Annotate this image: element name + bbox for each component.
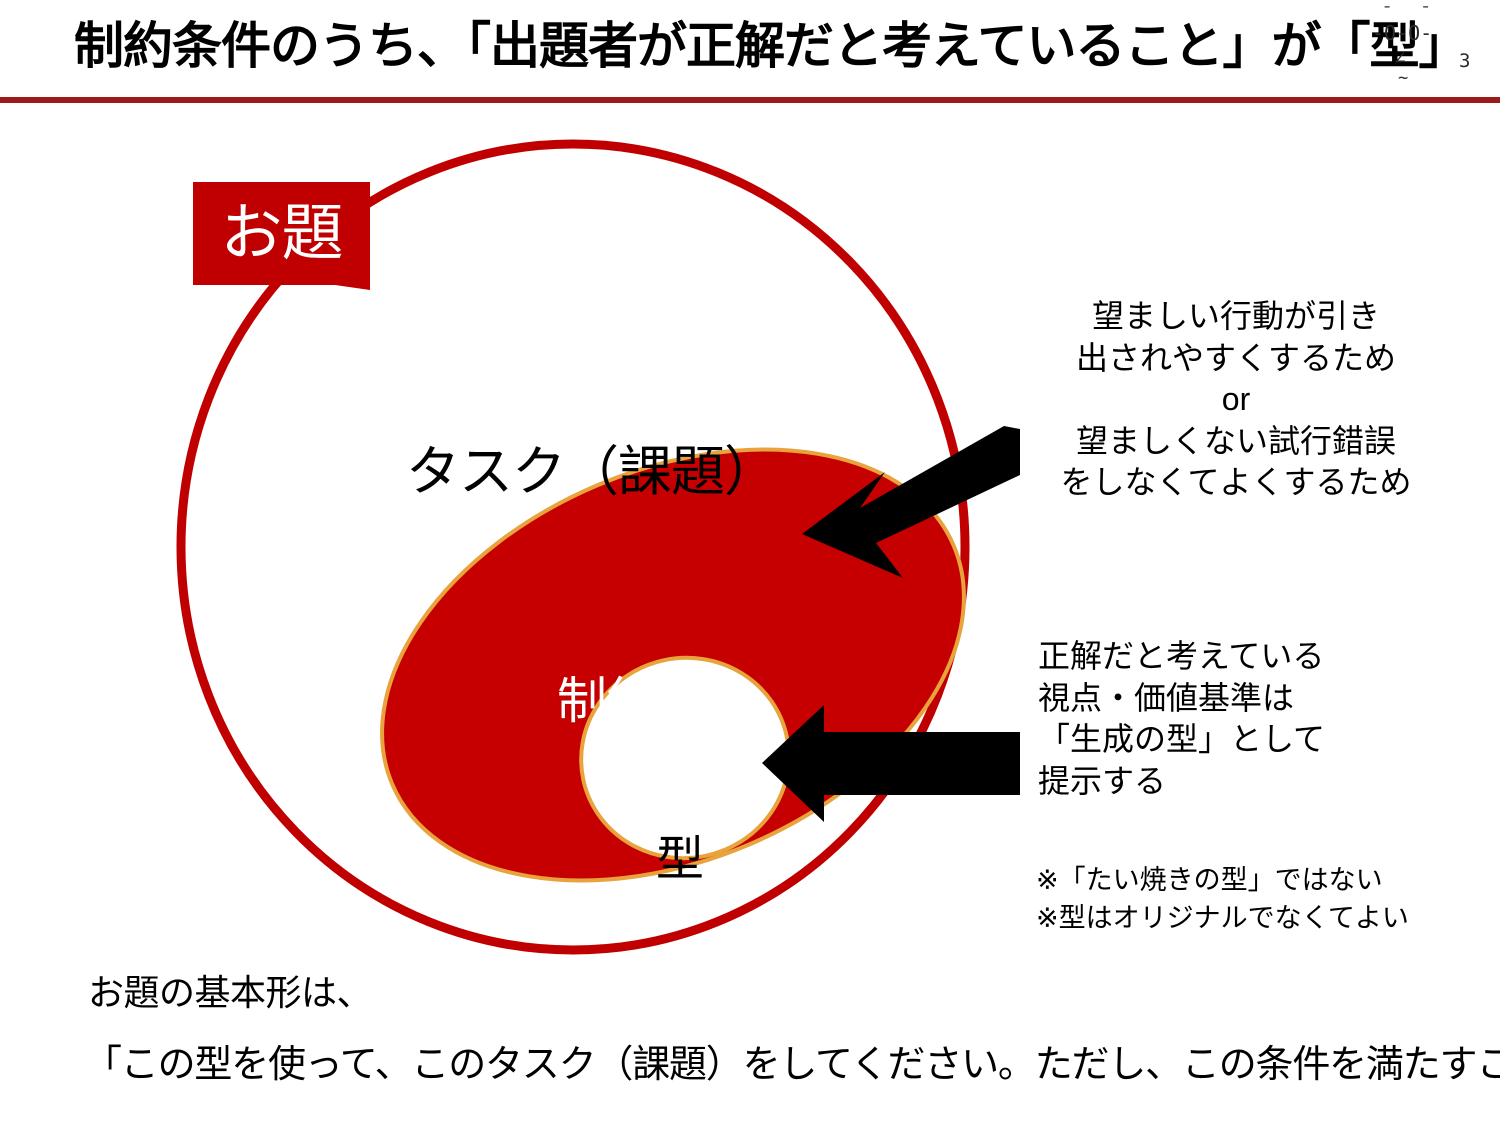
diagram-svg	[0, 110, 1060, 980]
odai-callout-label: お題	[193, 182, 370, 285]
annotation-behaviour: 望ましい行動が引き 出されやすくするため or 望ましくない試行錯誤 をしなくて…	[1036, 296, 1436, 504]
annotation-asterisk-notes: ※「たい焼きの型」ではない ※型はオリジナルでなくてよい	[1036, 861, 1486, 938]
odai-callout-box: お題	[193, 182, 370, 285]
logo-mouth: ~	[1398, 70, 1408, 87]
page-number: 3	[1459, 50, 1470, 72]
annotation-kata: 正解だと考えている 視点・価値基準は 「生成の型」として 提示する	[1038, 636, 1438, 802]
page-title: 制約条件のうち、「出題者が正解だと考えていること」が「型」	[74, 16, 1364, 76]
header-divider-rule	[0, 97, 1500, 103]
footer-line-2: 「この型を使って、このタスク（課題）をしてください。ただし、この条件を満たすこと…	[84, 1033, 1500, 1088]
slide-canvas: 制約条件のうち、「出題者が正解だと考えていること」が「型」 ¯ ¯ -O-O- …	[0, 0, 1500, 1125]
outer-circle-label: タスク（課題）	[406, 445, 777, 499]
logo-nose: ∠	[1394, 48, 1406, 68]
footer-line-1: お題の基本形は、	[88, 964, 372, 1016]
logo-eyes: -O-O-	[1372, 23, 1432, 43]
constraint-ellipse-label: 制約条件	[557, 676, 753, 726]
kata-circle-label: 型	[656, 836, 704, 884]
venn-diagram: タスク（課題） 制約条件 型	[0, 110, 1060, 980]
kaomoji-face-logo: ¯ ¯ -O-O- ∠ ~	[1368, 6, 1468, 96]
